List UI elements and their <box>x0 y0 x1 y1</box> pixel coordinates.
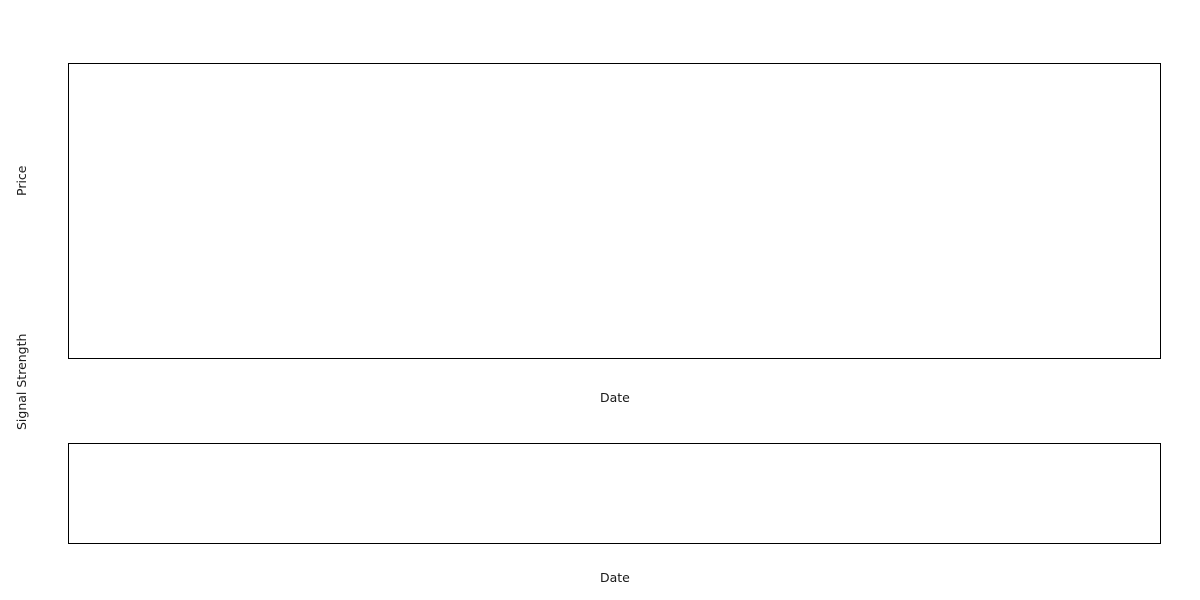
chart-page: Price Date Signal Strength Date <box>0 0 1200 600</box>
buy-sell-plot-area <box>68 443 1161 544</box>
signal-xaxis-label: Date <box>600 570 630 585</box>
price-wave-plot-area <box>68 63 1161 359</box>
signal-yaxis-label: Signal Strength <box>14 334 29 430</box>
price-yaxis-label: Price <box>14 166 29 197</box>
price-xaxis-label: Date <box>600 390 630 405</box>
